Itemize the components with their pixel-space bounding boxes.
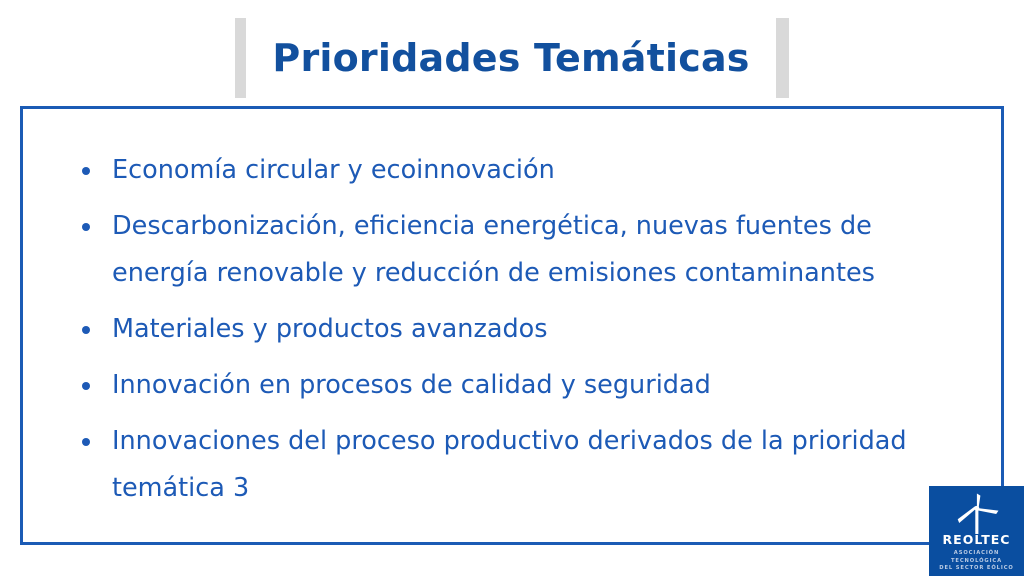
list-item: Descarbonización, eficiencia energética,… (81, 203, 971, 297)
title-decoration-bar-left (235, 18, 246, 98)
slide-title-row: Prioridades Temáticas (0, 14, 1024, 102)
logo-tagline-line-1: ASOCIACIÓN (929, 550, 1024, 558)
logo-tagline-line-3: DEL SECTOR EÓLICO (929, 565, 1024, 573)
list-item-label: Descarbonización, eficiencia energética,… (112, 211, 875, 288)
bullet-dot-icon (82, 438, 90, 446)
bullet-dot-icon (82, 223, 90, 231)
bullet-dot-icon (82, 167, 90, 175)
page-title: Prioridades Temáticas (246, 39, 775, 77)
list-item: Innovaciones del proceso productivo deri… (81, 418, 971, 512)
list-item: Materiales y productos avanzados (81, 306, 971, 353)
list-item-label: Materiales y productos avanzados (112, 314, 548, 344)
reoltec-logo: REOLTEC ASOCIACIÓN TECNOLÓGICA DEL SECTO… (929, 486, 1024, 576)
list-item-label: Economía circular y ecoinnovación (112, 155, 555, 185)
content-box: Economía circular y ecoinnovación Descar… (20, 106, 1004, 545)
logo-wordmark: REOLTEC (929, 534, 1024, 547)
title-decoration-bar-right (776, 18, 789, 98)
priority-bullet-list: Economía circular y ecoinnovación Descar… (81, 147, 971, 521)
list-item-label: Innovación en procesos de calidad y segu… (112, 370, 711, 400)
logo-tagline: ASOCIACIÓN TECNOLÓGICA DEL SECTOR EÓLICO (929, 550, 1024, 573)
list-item: Economía circular y ecoinnovación (81, 147, 971, 194)
bullet-dot-icon (82, 326, 90, 334)
list-item: Innovación en procesos de calidad y segu… (81, 362, 971, 409)
wind-turbine-icon (954, 492, 1000, 534)
slide-canvas: Prioridades Temáticas Economía circular … (0, 0, 1024, 576)
list-item-label: Innovaciones del proceso productivo deri… (112, 426, 907, 503)
bullet-dot-icon (82, 382, 90, 390)
